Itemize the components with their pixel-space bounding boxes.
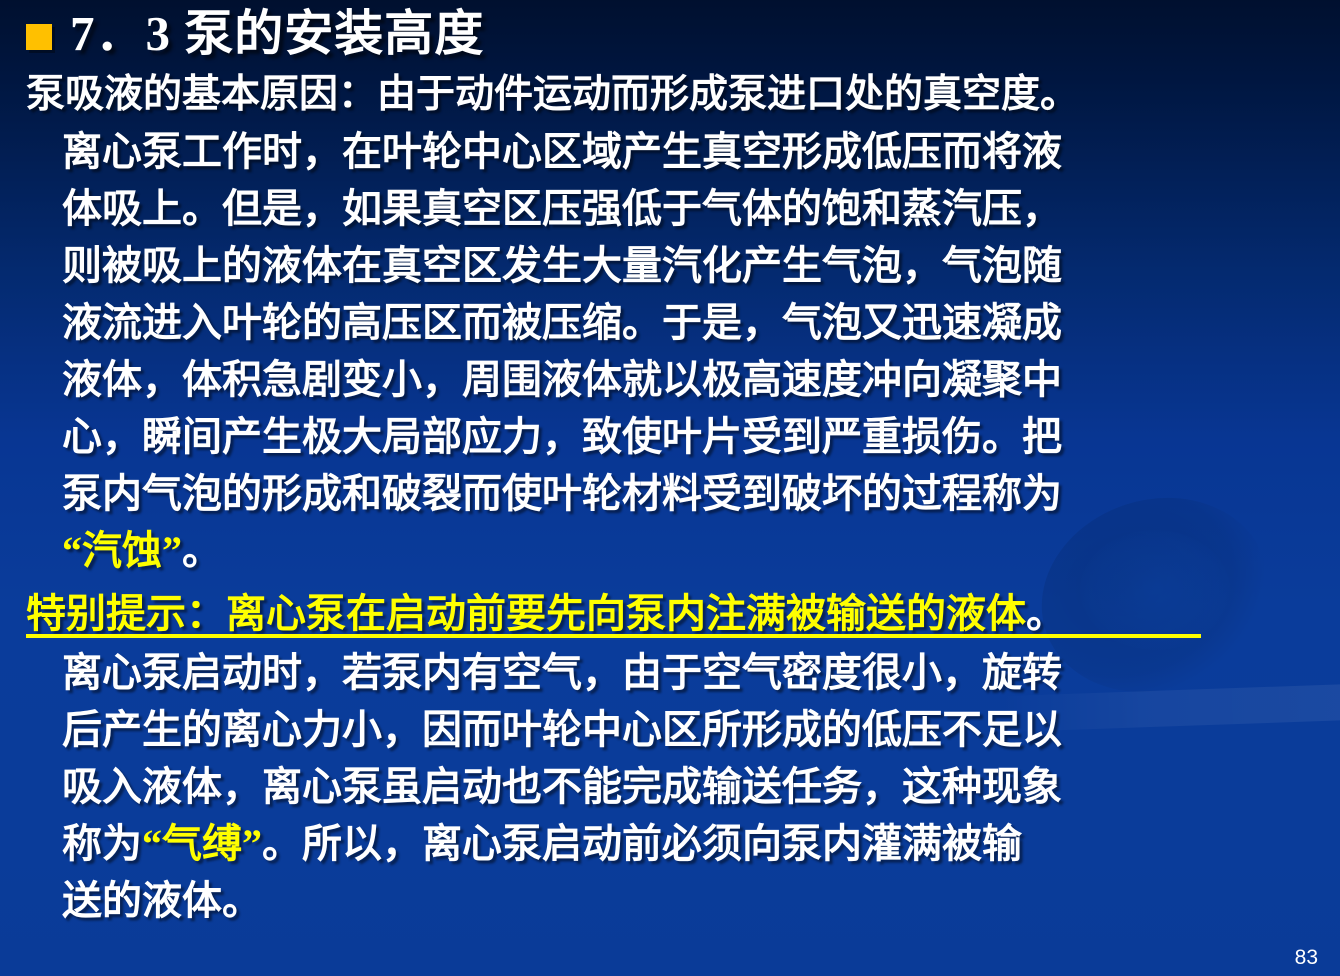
paragraph-line-suffix: 。所以，离心泵启动前必须向泵内灌满被输 [262,821,1022,866]
paragraph-line-prefix: 称为 [62,821,142,866]
paragraph-line: 液体，体积急剧变小，周围液体就以极高速度冲向凝聚中 [62,351,1317,408]
paragraph-line: 体吸上。但是，如果真空区压强低于气体的饱和蒸汽压， [62,180,1317,237]
paragraph-air-binding: 离心泵启动时，若泵内有空气，由于空气密度很小，旋转 后产生的离心力小，因而叶轮中… [62,644,1317,929]
special-tip-period: 。 [1026,591,1066,636]
paragraph-cavitation: 离心泵工作时，在叶轮中心区域产生真空形成低压而将液 体吸上。但是，如果真空区压强… [62,123,1317,579]
slide-canvas: 7．3 泵的安装高度 泵吸液的基本原因：由于动件运动而形成泵进口处的真空度。 离… [0,0,1340,976]
paragraph-line: 离心泵工作时，在叶轮中心区域产生真空形成低压而将液 [62,123,1317,180]
page-title: 7．3 泵的安装高度 [70,8,484,59]
slide-title-row: 7．3 泵的安装高度 [26,8,1340,59]
paragraph-line: 则被吸上的液体在真空区发生大量汽化产生气泡，气泡随 [62,237,1317,294]
paragraph-line: 心，瞬间产生极大局部应力，致使叶片受到严重损伤。把 [62,408,1317,465]
term-air-binding-highlight: “气缚” [142,821,262,866]
paragraph-line: 液流进入叶轮的高压区而被压缩。于是，气泡又迅速凝成 [62,294,1317,351]
paragraph-line: 送的液体。 [62,872,1317,929]
term-cavitation-highlight: “汽蚀” [62,528,182,573]
special-tip-underline-yellow [26,634,1201,638]
special-tip-text: 特别提示：离心泵在启动前要先向泵内注满被输送的液体 [26,591,1026,636]
paragraph-line: 离心泵启动时，若泵内有空气，由于空气密度很小，旋转 [62,644,1317,701]
slide-content: 7．3 泵的安装高度 泵吸液的基本原因：由于动件运动而形成泵进口处的真空度。 离… [0,8,1340,929]
paragraph-line-final: “汽蚀”。 [62,522,1317,579]
lead-sentence: 泵吸液的基本原因：由于动件运动而形成泵进口处的真空度。 [26,66,1340,123]
term-cavitation-period: 。 [182,528,222,573]
paragraph-line: 吸入液体，离心泵虽启动也不能完成输送任务，这种现象 [62,758,1317,815]
special-tip-line: 特别提示：离心泵在启动前要先向泵内注满被输送的液体。 [26,585,1066,642]
paragraph-line: 后产生的离心力小，因而叶轮中心区所形成的低压不足以 [62,701,1317,758]
page-number: 83 [1295,946,1318,970]
paragraph-line: 泵内气泡的形成和破裂而使叶轮材料受到破坏的过程称为 [62,465,1317,522]
paragraph-line-with-term: 称为“气缚”。所以，离心泵启动前必须向泵内灌满被输 [62,815,1317,872]
square-bullet-icon [26,24,52,50]
